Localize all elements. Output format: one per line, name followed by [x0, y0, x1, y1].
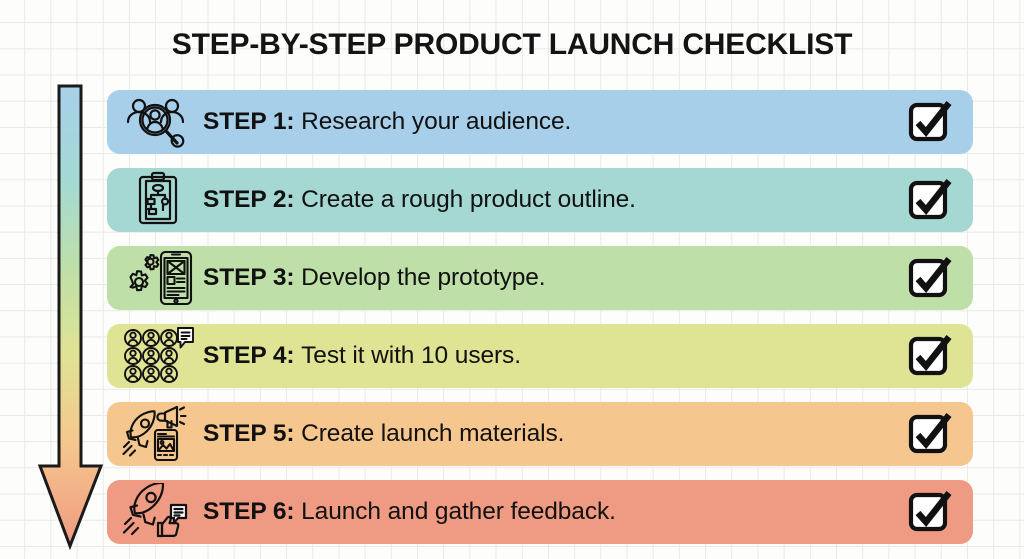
infographic-canvas: STEP-BY-STEP PRODUCT LAUNCH CHECKLIST — [0, 0, 1024, 559]
step-label-1: STEP 1: Research your audience. — [195, 108, 887, 136]
step-description-4: Test it with 10 users. — [301, 342, 521, 369]
step-row-5[interactable]: STEP 5: Create launch materials. — [107, 402, 973, 466]
step-label-6: STEP 6: Launch and gather feedback. — [195, 498, 887, 526]
audience-research-icon — [121, 93, 195, 151]
page-title: STEP-BY-STEP PRODUCT LAUNCH CHECKLIST — [0, 28, 1024, 62]
step-row-1[interactable]: STEP 1: Research your audience. — [107, 90, 973, 154]
step-label-5: STEP 5: Create launch materials. — [195, 420, 887, 448]
checkbox-1[interactable] — [887, 98, 973, 146]
step-number-6: STEP 6: — [203, 498, 301, 525]
checkbox-6[interactable] — [887, 488, 973, 536]
checkbox-3[interactable] — [887, 254, 973, 302]
rocket-megaphone-post-icon — [121, 405, 195, 463]
step-row-6[interactable]: STEP 6: Launch and gather feedback. — [107, 480, 973, 544]
steps-list: STEP 1: Research your audience. — [107, 90, 973, 558]
step-number-3: STEP 3: — [203, 264, 301, 291]
step-description-5: Create launch materials. — [301, 420, 564, 447]
step-label-3: STEP 3: Develop the prototype. — [195, 264, 887, 292]
user-grid-feedback-icon — [121, 327, 195, 385]
step-row-3[interactable]: STEP 3: Develop the prototype. — [107, 246, 973, 310]
step-label-2: STEP 2: Create a rough product outline. — [195, 186, 887, 214]
step-row-4[interactable]: STEP 4: Test it with 10 users. — [107, 324, 973, 388]
downward-progress-arrow — [38, 84, 104, 550]
clipboard-outline-icon — [121, 171, 195, 229]
step-description-3: Develop the prototype. — [301, 264, 545, 291]
checkbox-5[interactable] — [887, 410, 973, 458]
gears-wireframe-icon — [121, 249, 195, 307]
step-row-2[interactable]: STEP 2: Create a rough product outline. — [107, 168, 973, 232]
step-number-1: STEP 1: — [203, 108, 301, 135]
step-label-4: STEP 4: Test it with 10 users. — [195, 342, 887, 370]
checkbox-4[interactable] — [887, 332, 973, 380]
rocket-thumbsup-icon — [121, 483, 195, 541]
checkbox-2[interactable] — [887, 176, 973, 224]
step-description-1: Research your audience. — [301, 108, 571, 135]
step-number-4: STEP 4: — [203, 342, 301, 369]
step-description-2: Create a rough product outline. — [301, 186, 636, 213]
step-description-6: Launch and gather feedback. — [301, 498, 616, 525]
step-number-5: STEP 5: — [203, 420, 301, 447]
step-number-2: STEP 2: — [203, 186, 301, 213]
